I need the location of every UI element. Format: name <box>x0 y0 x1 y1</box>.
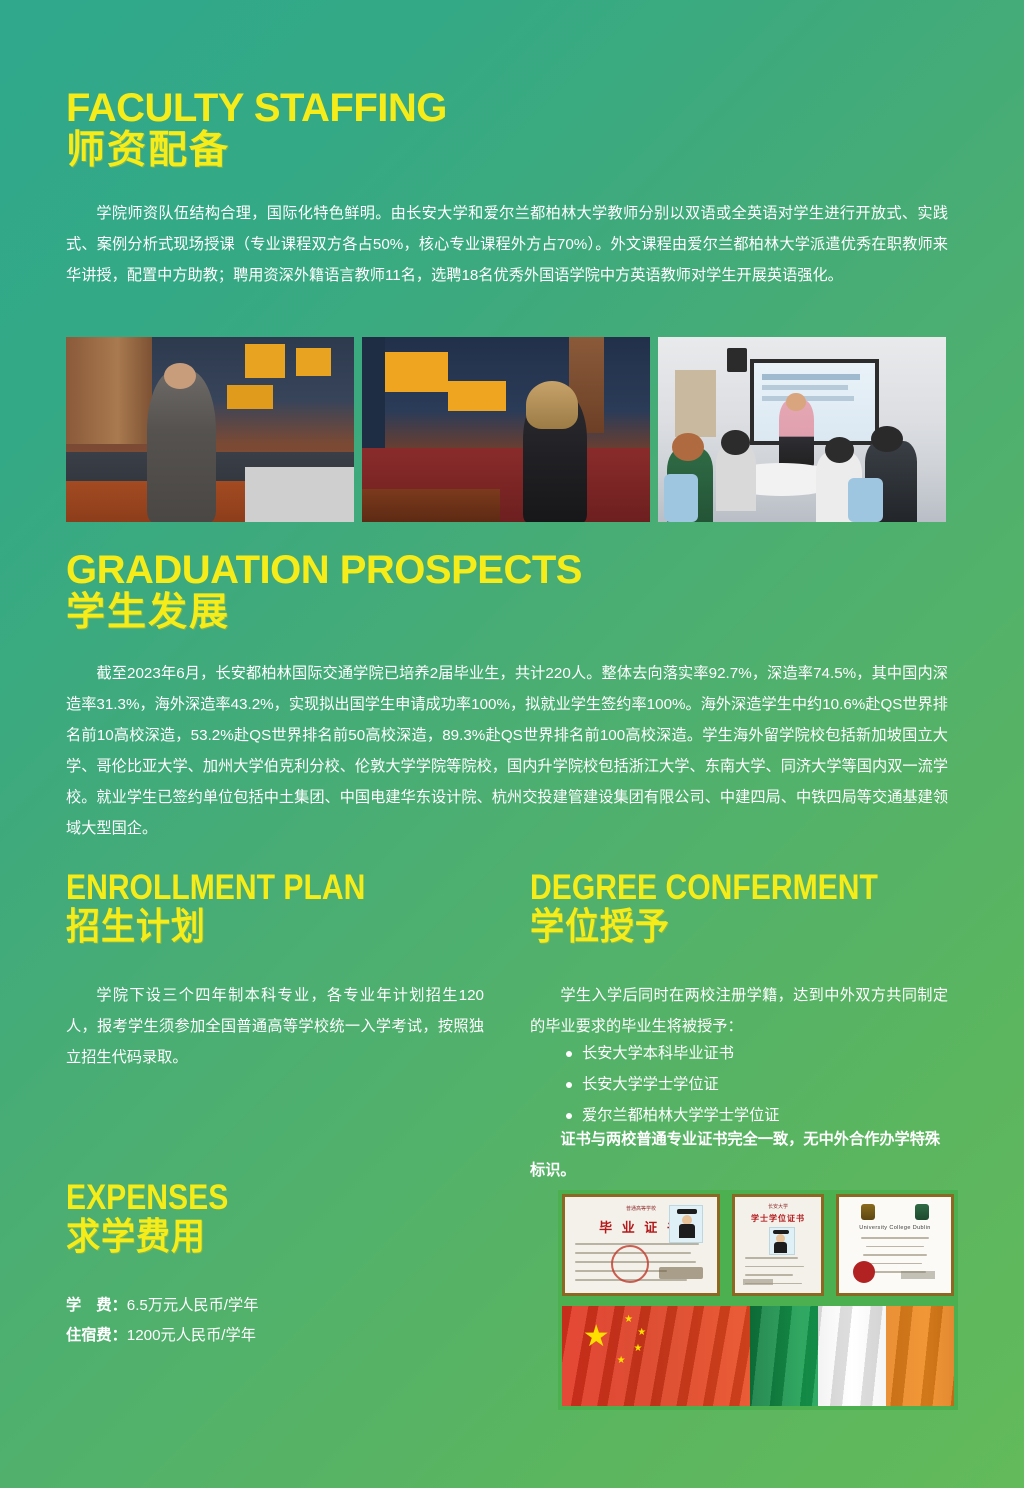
photo-seminar-room-round-table <box>658 337 946 522</box>
certificate-changan-bachelor-degree: 长安大学 学士学位证书 <box>732 1194 824 1296</box>
degree-emphasis-note: 证书与两校普通专业证书完全一致，无中外合作办学特殊标识。 <box>530 1124 950 1186</box>
heading-en-faculty: FACULTY STAFFING <box>66 88 447 129</box>
flag-ireland-icon <box>750 1306 954 1406</box>
certificate-title-2: 学士学位证书 <box>735 1213 821 1224</box>
brochure-page: FACULTY STAFFING 师资配备 学院师资队伍结构合理，国际化特色鲜明… <box>0 0 1024 1488</box>
section-heading-graduation-prospects: GRADUATION PROSPECTS 学生发展 <box>66 550 582 634</box>
certificate-title-3: University College Dublin <box>839 1225 951 1231</box>
fee-value-tuition: 6.5万元人民币/学年 <box>127 1297 259 1314</box>
fee-label-tuition: 学 费： <box>66 1297 127 1314</box>
heading-cn-faculty: 师资配备 <box>66 131 447 172</box>
section-heading-expenses: EXPENSES 求学费用 <box>66 1180 255 1257</box>
heading-cn-graduation: 学生发展 <box>66 593 582 634</box>
paragraph-degree-conferment: 学生入学后同时在两校注册学籍，达到中外双方共同制定的毕业要求的毕业生将被授予： <box>530 980 948 1042</box>
section-heading-faculty-staffing: FACULTY STAFFING 师资配备 <box>66 88 447 172</box>
list-item: 长安大学学士学位证 <box>548 1069 948 1100</box>
heading-en-graduation: GRADUATION PROSPECTS <box>66 550 582 591</box>
photo-foreign-teacher-lecturing-in-auditorium <box>66 337 354 522</box>
heading-en-expenses: EXPENSES <box>66 1180 228 1216</box>
heading-cn-degree: 学位授予 <box>530 908 902 947</box>
degree-certificate-list: 长安大学本科毕业证书 长安大学学士学位证 爱尔兰都柏林大学学士学位证 <box>548 1038 948 1131</box>
photo-foreign-teacher-with-microphone <box>362 337 650 522</box>
fee-value-accommodation: 1200元人民币/学年 <box>127 1327 256 1344</box>
list-item: 长安大学本科毕业证书 <box>548 1038 948 1069</box>
section-heading-degree-conferment: DEGREE CONFERMENT 学位授予 <box>530 870 934 947</box>
certificate-changan-graduation: 普通高等学校 毕 业 证 书 <box>562 1194 720 1296</box>
flag-china-icon: ★ ★ ★ ★ ★ <box>562 1306 750 1406</box>
certificates-strip: 普通高等学校 毕 业 证 书 长安大学 学士学位证书 <box>558 1190 958 1308</box>
heading-cn-enrollment: 招生计划 <box>66 908 386 947</box>
certificate-sub-2: 长安大学 <box>735 1203 821 1210</box>
flags-china-ireland: ★ ★ ★ ★ ★ <box>558 1302 958 1410</box>
fee-row-tuition: 学 费：6.5万元人民币/学年 <box>66 1292 258 1320</box>
fee-label-accommodation: 住宿费： <box>66 1327 127 1344</box>
fee-row-accommodation: 住宿费：1200元人民币/学年 <box>66 1322 256 1350</box>
section-heading-enrollment-plan: ENROLLMENT PLAN 招生计划 <box>66 870 414 947</box>
paragraph-enrollment-plan: 学院下设三个四年制本科专业，各专业年计划招生120人，报考学生须参加全国普通高等… <box>66 980 484 1073</box>
certificate-ucd-diploma: University College Dublin <box>836 1194 954 1296</box>
heading-en-enrollment: ENROLLMENT PLAN <box>66 870 365 906</box>
heading-cn-expenses: 求学费用 <box>66 1218 240 1257</box>
heading-en-degree: DEGREE CONFERMENT <box>530 870 878 906</box>
paragraph-graduation-prospects: 截至2023年6月，长安都柏林国际交通学院已培养2届毕业生，共计220人。整体去… <box>66 658 948 844</box>
paragraph-faculty-staffing: 学院师资队伍结构合理，国际化特色鲜明。由长安大学和爱尔兰都柏林大学教师分别以双语… <box>66 198 948 291</box>
